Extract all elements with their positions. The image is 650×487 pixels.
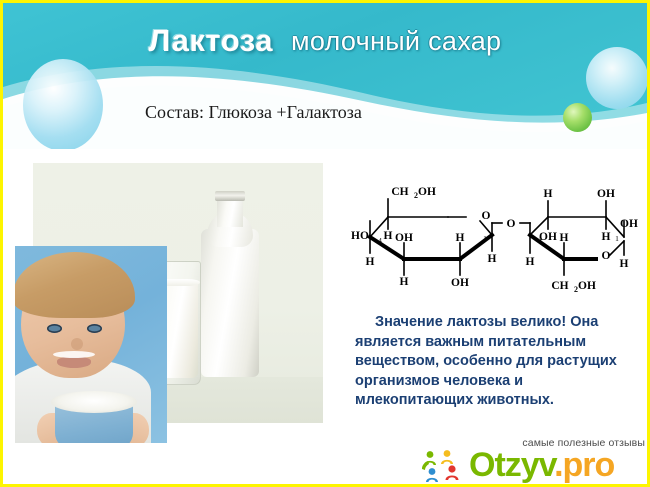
boy-cup <box>55 399 133 443</box>
svg-text:OH: OH <box>418 186 436 198</box>
boy-hair <box>15 252 135 318</box>
boy-eye-left <box>47 324 62 333</box>
svg-text:4: 4 <box>538 234 542 243</box>
svg-text:CH: CH <box>551 280 568 292</box>
svg-text:H: H <box>526 256 535 268</box>
svg-text:H: H <box>366 256 375 268</box>
svg-text:CH: CH <box>391 186 408 198</box>
title-subtitle: молочный сахар <box>291 26 501 56</box>
svg-text:H: H <box>620 258 629 270</box>
logo-name-orange: .pro <box>554 446 614 484</box>
svg-text:OH: OH <box>578 280 596 292</box>
page-title: Лактозамолочный сахар <box>3 23 647 59</box>
bottle-cap <box>215 191 245 201</box>
svg-text:HO: HO <box>351 230 369 242</box>
svg-text:H: H <box>456 232 465 244</box>
slide-root: Лактозамолочный сахар Состав: Глюкоза +Г… <box>0 0 650 487</box>
otzyv-logo[interactable]: самые полезные отзывы Otzyv.pro <box>421 437 647 485</box>
svg-text:H: H <box>544 188 553 200</box>
boy-cup-rim <box>51 391 137 413</box>
svg-text:OH: OH <box>451 277 469 289</box>
milk-bottle <box>201 187 259 377</box>
svg-text:O: O <box>602 250 611 262</box>
lactose-structure-diagram: CH2OH O HO H H OH H H OH H O H OH OH H H… <box>348 171 644 296</box>
bottle-neck <box>217 197 243 227</box>
logo-name-green: Otzyv <box>469 446 554 484</box>
svg-text:4: 4 <box>378 236 382 245</box>
svg-text:1: 1 <box>483 234 487 243</box>
boy-mouth <box>57 357 91 368</box>
slide-header: Лактозамолочный сахар Состав: Глюкоза +Г… <box>3 3 647 149</box>
title-main: Лактоза <box>149 23 273 58</box>
svg-text:H: H <box>400 276 409 288</box>
svg-text:O: O <box>507 218 516 230</box>
svg-text:H: H <box>488 253 497 265</box>
bottle-body <box>201 229 259 377</box>
people-cluster-icon <box>421 449 465 483</box>
svg-text:OH: OH <box>597 188 615 200</box>
boy-eye-right <box>87 324 102 333</box>
svg-text:H: H <box>384 230 393 242</box>
svg-text:1: 1 <box>615 234 619 243</box>
logo-wordmark: Otzyv.pro <box>469 447 614 483</box>
svg-text:H: H <box>560 232 569 244</box>
svg-text:H: H <box>602 231 611 243</box>
photo-boy-drinking-milk <box>15 246 167 443</box>
svg-text:OH: OH <box>395 232 413 244</box>
boy-nose <box>71 338 83 350</box>
composition-line: Состав: Глюкоза +Галактоза <box>145 102 362 123</box>
svg-text:OH: OH <box>620 218 638 230</box>
boy-milk-moustache <box>53 351 95 358</box>
svg-text:O: O <box>482 210 491 222</box>
body-paragraph: Значение лактозы велико! Она является ва… <box>355 313 645 411</box>
